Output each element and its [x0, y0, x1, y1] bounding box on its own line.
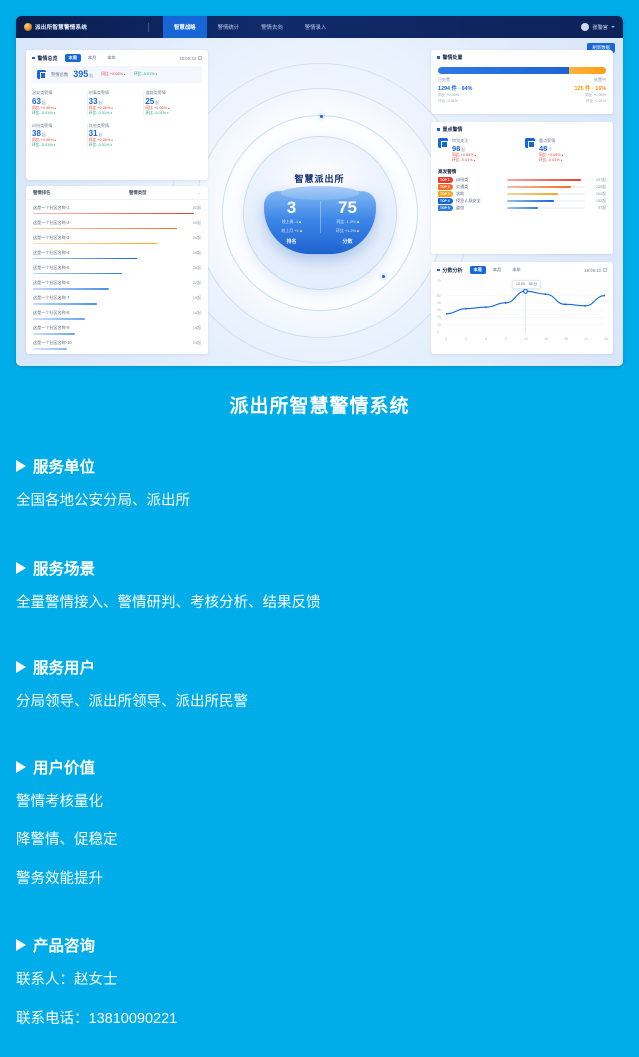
overview-cell-label: 道路类警情 [145, 90, 198, 96]
content-sections: 服务单位 全国各地公安分局、派出所 服务场景 全量警情接入、警情研判、考核分析、… [16, 455, 623, 1039]
gauge-rank-label: 排名 [264, 238, 320, 245]
chevron-down-icon [611, 26, 615, 28]
panel-key-alarms: 重点警情 特别关注 98 起 同比 +0.06% 环比 -0.01% [431, 122, 613, 254]
attention-icon [438, 138, 448, 148]
flag-icon [525, 138, 535, 148]
dispose-legend: 已处置 1294 件 · 64% 同比 +0.06% 环比 -0.01% 处置中… [438, 77, 606, 104]
ranking-row-value: 16起 [193, 310, 201, 316]
overview-cell-label: 纠纷类警情 [32, 123, 85, 129]
hot-alarm-badge: TOP 1 [438, 177, 453, 183]
ranking-row[interactable]: 这是一个社区名称-719起 [33, 293, 201, 308]
key-card-value: 98 [452, 145, 460, 153]
ranking-rows: 这是一个社区名称-182起这是一个社区名称-250起这是一个社区名称-328起这… [26, 200, 208, 354]
triangle-bullet-icon [16, 562, 26, 574]
chart-tooltip: 12:00 56 分 [512, 280, 541, 289]
gauge-score-label: 分数 [320, 238, 376, 245]
tab-jingqing-luru[interactable]: 警情录入 [294, 16, 338, 38]
brand-name: 派出所智慧警情系统 [35, 23, 87, 31]
tab-zhihui-zhanlue[interactable]: 智慧战略 [163, 16, 207, 38]
ranking-row-name: 这是一个社区名称-8 [33, 310, 193, 316]
ranking-row-name: 这是一个社区名称-3 [33, 235, 193, 241]
ranking-row-bar [33, 273, 122, 275]
chart-y-tick: 10 [437, 323, 441, 327]
ranking-row-name: 这是一个社区名称-6 [33, 280, 193, 286]
ranking-row-bar [33, 243, 157, 245]
chart-x-tick: 0 [445, 337, 447, 341]
hot-alarms-title: 高发警情 [438, 169, 606, 175]
overview-range-tabs: 本周 本月 本年 [65, 54, 120, 62]
gauge-score-value: 75 [320, 199, 376, 217]
hot-alarm-row[interactable]: TOP 1纠纷类297起 [438, 177, 606, 183]
ranking-row-bar [33, 258, 137, 260]
hot-alarm-value: 152起 [588, 199, 606, 204]
gauge-score-column: 75 同比 -1.2% 环比 +1.2% 分数 [320, 199, 376, 245]
gauge-rank-value: 3 [264, 199, 320, 217]
ranking-row-value: 28起 [193, 265, 201, 271]
score-tab-week[interactable]: 本周 [470, 266, 486, 274]
dispose-done-label: 已处置 [438, 77, 522, 83]
dispose-done-d2: 环比 -0.01% [438, 99, 522, 104]
section-heading-text: 服务单位 [33, 455, 95, 477]
gauge-title: 智慧派出所 [258, 172, 382, 185]
dispose-done-value: 1294 件 · 64% [438, 84, 522, 92]
dispose-ongoing: 处置中 125 件 · 16% 同比 +0.06% 环比 -0.01% [522, 77, 606, 104]
overview-cell-unit: 起 [42, 100, 46, 106]
hot-alarm-row[interactable]: TOP 5盗窃97起 [438, 205, 606, 211]
hot-alarm-value: 162起 [588, 192, 606, 197]
triangle-bullet-icon [16, 460, 26, 472]
dashboard-navbar: 派出所智慧警情系统 智慧战略 警情统计 警情去向 警情录入 张警官 [16, 16, 623, 38]
hot-alarm-name: 侵犯人身安全 [456, 198, 504, 204]
overview-header: 警情总览 本周 本月 本年 18:09:23 [26, 50, 208, 65]
ranking-row[interactable]: 这是一个社区名称-1112起 [33, 353, 201, 354]
dashboard-nav-tabs: 智慧战略 警情统计 警情去向 警情录入 [163, 16, 337, 38]
overview-tab-year[interactable]: 本年 [103, 54, 119, 62]
section-service-user: 服务用户 分局领导、派出所领导、派出所民警 [16, 656, 623, 713]
gauge-rank-delta-month: 较上月 +1 [264, 228, 320, 234]
section-heading-text: 服务用户 [33, 656, 95, 678]
ranking-row-bar [33, 318, 85, 320]
dispose-ongoing-label: 处置中 [522, 77, 606, 83]
ranking-row[interactable]: 这是一个社区名称-816起 [33, 308, 201, 323]
contact-phone: 联系电话：13810090221 [16, 1010, 623, 1030]
chart-x-tick: 21 [584, 337, 588, 341]
overview-tab-month[interactable]: 本月 [84, 54, 100, 62]
hot-alarm-fill [507, 179, 581, 181]
ranking-row[interactable]: 这是一个社区名称-182起 [33, 202, 201, 217]
ranking-row-value: 28起 [193, 235, 201, 241]
hot-alarm-track [507, 193, 585, 195]
ranking-sort-icon[interactable]: ⌄ [191, 190, 201, 196]
hot-alarm-badge: TOP 2 [438, 184, 453, 190]
tooltip-time: 12:00 [516, 282, 525, 287]
chart-x-tick: 9 [505, 337, 507, 341]
smart-station-gauge: 智慧派出所 3 较上周 -1 较上月 +1 排名 75 同比 -1.2% 环比 … [258, 172, 382, 254]
chart-x-tick: 3 [465, 337, 467, 341]
hot-alarm-row[interactable]: TOP 4侵犯人身安全152起 [438, 198, 606, 204]
section-heading-text: 服务场景 [33, 557, 95, 579]
section-heading-text: 产品咨询 [33, 934, 95, 956]
panel-community-ranking: 警情排名 警情类型 ⌄ 这是一个社区名称-182起这是一个社区名称-250起这是… [26, 186, 208, 354]
ranking-row-value: 19起 [193, 295, 201, 301]
overview-tab-week[interactable]: 本周 [65, 54, 81, 62]
hot-alarm-badge: TOP 4 [438, 198, 453, 204]
contact-person: 联系人：赵女士 [16, 971, 623, 991]
chart-y-tick: 20 [437, 315, 441, 319]
hot-alarm-fill [507, 193, 558, 195]
chart-x-tick: 6 [485, 337, 487, 341]
ranking-row-name: 这是一个社区名称-2 [33, 220, 193, 226]
ranking-col-rank: 警情排名 [33, 190, 129, 196]
key-alarms-title: 重点警情 [443, 126, 463, 133]
hot-alarm-value: 235起 [588, 185, 606, 190]
overview-cell-label: 刑事类警情 [89, 90, 142, 96]
dispose-progress-bar [438, 67, 606, 74]
dispose-progress-ongoing [569, 67, 606, 74]
chart-y-tick: 40 [437, 301, 441, 305]
overview-title: 警情总览 [38, 55, 58, 62]
overview-cell-value: 33 [89, 98, 98, 106]
score-tab-year[interactable]: 本年 [508, 266, 524, 274]
section-line: 警情考核量化 [16, 793, 623, 813]
ranking-row[interactable]: 这是一个社区名称-528起 [33, 262, 201, 277]
gauge-rank-delta-week: 较上周 -1 [264, 219, 320, 225]
section-heading: 用户价值 [16, 756, 623, 778]
ranking-row-bar [33, 288, 109, 290]
ring-marker-dot [382, 275, 385, 278]
section-user-value: 用户价值 警情考核量化 降警情、促稳定 警务效能提升 [16, 756, 623, 890]
overview-cell: 其他类警情 31 起 同比 +0.06% 环比 -0.01% [89, 120, 146, 153]
bullet-icon [437, 56, 440, 59]
bullet-icon [437, 128, 440, 131]
tab-jingqing-tongji[interactable]: 警情统计 [207, 16, 251, 38]
hot-alarm-badge: TOP 3 [438, 191, 453, 197]
section-line: 分局领导、派出所领导、派出所民警 [16, 693, 623, 713]
ranking-row-name: 这是一个社区名称-9 [33, 325, 193, 331]
dashboard-screenshot: 派出所智慧警情系统 智慧战略 警情统计 警情去向 警情录入 张警官 刷新数据 [16, 16, 623, 366]
document-icon [37, 70, 46, 79]
ranking-col-type: 警情类型 [129, 190, 191, 196]
chart-y-tick: 0 [437, 330, 439, 334]
section-heading: 服务场景 [16, 557, 623, 579]
dashboard-body: 刷新数据 智慧派出所 3 较上周 -1 较上月 +1 排名 75 同比 -1.2… [16, 38, 623, 366]
overview-cell: 纠纷类警情 38 起 同比 +0.06% 环比 -0.01% [32, 120, 89, 153]
gauge-score-delta-qoq: 环比 +1.2% [320, 228, 376, 234]
avatar [581, 23, 589, 31]
hot-alarm-fill [507, 186, 571, 188]
ranking-row-value: 14起 [193, 340, 201, 346]
section-heading: 服务单位 [16, 455, 623, 477]
overview-total-label: 警情总数 [51, 72, 68, 78]
ranking-row-value: 82起 [193, 205, 201, 211]
ranking-row-value: 22起 [193, 280, 201, 286]
ranking-row-value: 50起 [193, 220, 201, 226]
tab-jingqing-quxiang[interactable]: 警情去向 [250, 16, 294, 38]
overview-cell-d2: 环比 -0.01% [145, 111, 198, 116]
dispose-ongoing-value: 125 件 · 16% [522, 84, 606, 92]
bullet-icon [32, 57, 35, 60]
dispose-done-d1: 同比 +0.06% [438, 93, 522, 98]
hot-alarm-row[interactable]: TOP 2交通类235起 [438, 184, 606, 190]
ranking-row[interactable]: 这是一个社区名称-250起 [33, 217, 201, 232]
triangle-bullet-icon [16, 939, 26, 951]
score-header: 分数分析 本周 本月 本年 18:09:23 [431, 262, 613, 277]
panel-overview: 警情总览 本周 本月 本年 18:09:23 警情总数 395 起 [26, 50, 208, 180]
score-tab-month[interactable]: 本月 [489, 266, 505, 274]
hot-alarm-name: 交通类 [456, 184, 504, 190]
overview-cell-d2: 环比 -0.01% [32, 111, 85, 116]
ranking-table-header: 警情排名 警情类型 ⌄ [26, 186, 208, 200]
calendar-icon [603, 268, 607, 272]
chart-x-tick: 12 [524, 337, 528, 341]
overview-cell-value: 63 [32, 98, 41, 106]
hot-alarm-name: 求助 [456, 191, 504, 197]
chart-x-tick: 18 [564, 337, 568, 341]
ranking-row-name: 这是一个社区名称-1 [33, 205, 193, 211]
overview-total: 警情总数 395 起 同比 +0.06% 环比 -0.01% [32, 66, 202, 83]
nav-divider [148, 23, 149, 32]
hot-alarm-track [507, 200, 585, 202]
gauge-score-delta-yoy: 同比 -1.2% [320, 219, 376, 225]
key-card-d2: 环比 -0.01% [452, 158, 477, 163]
overview-cell-unit: 起 [155, 100, 159, 106]
dispose-header: 警情处置 [431, 50, 613, 64]
score-range-tabs: 本周 本月 本年 [470, 266, 525, 274]
key-alarms-header: 重点警情 [431, 122, 613, 136]
overview-cell-d2: 环比 -0.01% [89, 143, 142, 148]
hot-alarm-track [507, 186, 585, 188]
panel-score-analysis: 分数分析 本周 本月 本年 18:09:23 0102030405070 036… [431, 262, 613, 354]
key-card-value: 48 [539, 145, 547, 153]
overview-metric-grid: 治安类警情 63 起 同比 +0.06% 环比 -0.01% 刑事类警情 33 … [32, 87, 202, 152]
hot-alarm-track [507, 179, 585, 181]
key-alarms-cards: 特别关注 98 起 同比 +0.06% 环比 -0.01% 重点警情 [438, 138, 606, 163]
panel-dispose: 警情处置 已处置 1294 件 · 64% 同比 +0.06% 环比 -0.01… [431, 50, 613, 114]
hot-alarm-value: 97起 [588, 206, 606, 211]
dispose-done: 已处置 1294 件 · 64% 同比 +0.06% 环比 -0.01% [438, 77, 522, 104]
section-heading: 服务用户 [16, 656, 623, 678]
overview-cell-d2: 环比 -0.01% [89, 111, 142, 116]
key-alarm-card: 重点警情 48 个 同比 +0.06% 环比 -0.01% [525, 138, 606, 163]
hot-alarm-value: 297起 [588, 178, 606, 183]
dispose-title: 警情处置 [443, 54, 463, 61]
key-alarm-card: 特别关注 98 起 同比 +0.06% 环比 -0.01% [438, 138, 519, 163]
chart-x-tick: 24 [604, 337, 608, 341]
page-title: 派出所智慧警情系统 [0, 391, 639, 418]
overview-total-unit: 起 [89, 73, 93, 79]
tooltip-value: 56 分 [529, 282, 537, 287]
section-heading-text: 用户价值 [33, 756, 95, 778]
overview-total-value: 395 [73, 70, 88, 79]
triangle-bullet-icon [16, 661, 26, 673]
chart-y-tick: 30 [437, 308, 441, 312]
ranking-row-bar [33, 228, 177, 230]
ranking-row[interactable]: 这是一个社区名称-914起 [33, 323, 201, 338]
score-line-chart: 0102030405070 03691215182124 12:00 56 分 [437, 279, 607, 341]
hot-alarm-name: 盗窃 [456, 205, 504, 211]
score-date[interactable]: 18:09:23 [584, 268, 607, 273]
chart-y-tick: 50 [437, 294, 441, 298]
ranking-row-name: 这是一个社区名称-5 [33, 265, 193, 271]
ranking-row[interactable]: 这是一个社区名称-328起 [33, 232, 201, 247]
ranking-row-name: 这是一个社区名称-7 [33, 295, 193, 301]
overview-cell: 刑事类警情 33 起 同比 +0.06% 环比 -0.01% [89, 87, 146, 120]
overview-cell-value: 31 [89, 130, 98, 138]
ranking-row-name: 这是一个社区名称-4 [33, 250, 193, 256]
overview-cell: 治安类警情 63 起 同比 +0.06% 环比 -0.01% [32, 87, 89, 120]
brand: 派出所智慧警情系统 [16, 23, 144, 31]
overview-cell-unit: 起 [99, 100, 103, 106]
section-heading: 产品咨询 [16, 934, 623, 956]
gauge-rank-column: 3 较上周 -1 较上月 +1 排名 [264, 199, 320, 245]
ring-marker-dot [320, 115, 323, 118]
triangle-bullet-icon [16, 761, 26, 773]
ranking-row[interactable]: 这是一个社区名称-1014起 [33, 338, 201, 353]
ranking-row-bar [33, 213, 194, 215]
user-name: 张警官 [592, 24, 608, 31]
section-service-unit: 服务单位 全国各地公安分局、派出所 [16, 455, 623, 512]
hot-alarm-fill [507, 200, 554, 202]
section-service-scene: 服务场景 全量警情接入、警情研判、考核分析、结果反馈 [16, 557, 623, 614]
dispose-progress-done [438, 67, 569, 74]
overview-cell-d2: 环比 -0.01% [32, 143, 85, 148]
overview-cell-label: 治安类警情 [32, 90, 85, 96]
user-menu[interactable]: 张警官 [581, 23, 623, 31]
hot-alarm-badge: TOP 5 [438, 205, 453, 211]
overview-cell-value: 38 [32, 130, 41, 138]
score-title: 分数分析 [443, 267, 463, 274]
gauge-card: 3 较上周 -1 较上月 +1 排名 75 同比 -1.2% 环比 +1.2% … [264, 191, 376, 254]
overview-total-delta-b: 环比 -0.01% [134, 72, 158, 77]
overview-cell: 道路类警情 25 起 同比 +0.06% 环比 -0.01% [145, 87, 202, 120]
ranking-row-value: 14起 [193, 325, 201, 331]
section-line: 全国各地公安分局、派出所 [16, 492, 623, 512]
dispose-ongoing-d1: 同比 +0.06% [522, 93, 606, 98]
hot-alarm-track [507, 207, 585, 209]
section-line: 降警情、促稳定 [16, 831, 623, 851]
section-line: 全量警情接入、警情研判、考核分析、结果反馈 [16, 594, 623, 614]
hot-alarm-row[interactable]: TOP 3求助162起 [438, 191, 606, 197]
section-line: 警务效能提升 [16, 870, 623, 890]
overview-date-text: 18:09:23 [179, 56, 196, 61]
section-product-inquiry: 产品咨询 联系人：赵女士 联系电话：13810090221 [16, 934, 623, 1029]
ranking-row-bar [33, 303, 97, 305]
ranking-row-name: 这是一个社区名称-10 [33, 340, 193, 346]
hot-alarm-name: 纠纷类 [456, 177, 504, 183]
ranking-row-bar [33, 348, 67, 350]
chart-y-tick: 70 [437, 279, 441, 283]
dispose-ongoing-d2: 环比 -0.01% [522, 99, 606, 104]
chart-x-tick: 15 [544, 337, 548, 341]
overview-total-delta-a: 同比 +0.06% [101, 72, 126, 77]
ranking-row-bar [33, 333, 75, 335]
score-date-text: 18:09:23 [584, 268, 601, 273]
hot-alarm-fill [507, 207, 538, 209]
overview-date[interactable]: 18:09:23 [179, 56, 202, 61]
overview-cell-label: 其他类警情 [89, 123, 142, 129]
ranking-row[interactable]: 这是一个社区名称-428起 [33, 247, 201, 262]
police-emblem-icon [24, 23, 32, 31]
hot-alarms-rows: TOP 1纠纷类297起TOP 2交通类235起TOP 3求助162起TOP 4… [431, 177, 613, 211]
calendar-icon [198, 56, 202, 60]
key-card-d2: 环比 -0.01% [539, 158, 564, 163]
ranking-row-value: 28起 [193, 250, 201, 256]
bullet-icon [437, 269, 440, 272]
ranking-row[interactable]: 这是一个社区名称-622起 [33, 277, 201, 292]
overview-cell-value: 25 [145, 98, 154, 106]
